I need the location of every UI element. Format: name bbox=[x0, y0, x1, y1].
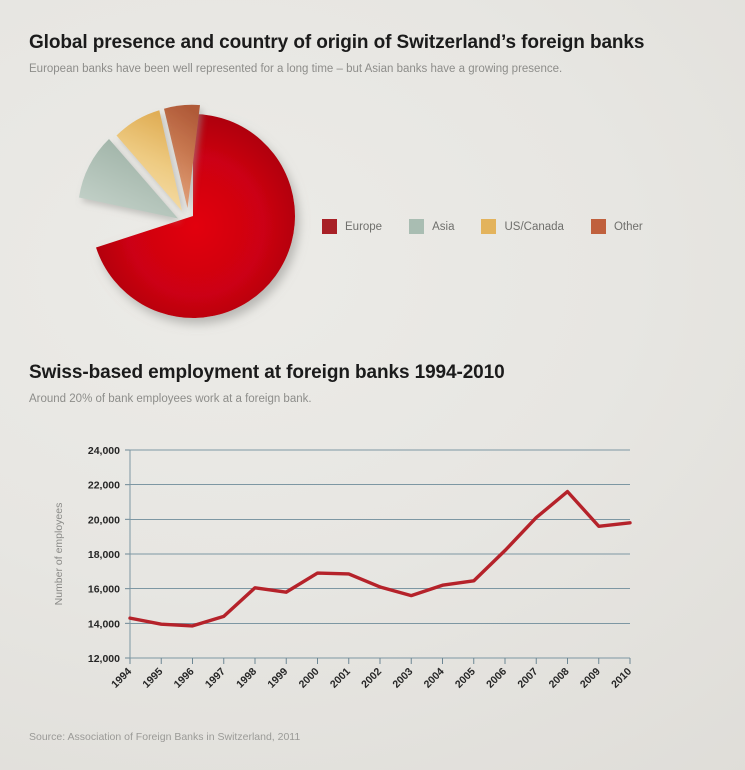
legend-swatch-asia bbox=[409, 219, 424, 234]
svg-text:2004: 2004 bbox=[422, 666, 447, 691]
pie-chart bbox=[52, 88, 322, 338]
legend-item-other[interactable]: Other bbox=[591, 219, 643, 234]
svg-text:18,000: 18,000 bbox=[88, 549, 120, 561]
source-note: Source: Association of Foreign Banks in … bbox=[29, 731, 300, 743]
infographic-page: Global presence and country of origin of… bbox=[0, 0, 745, 770]
svg-text:1994: 1994 bbox=[109, 666, 134, 691]
svg-text:2000: 2000 bbox=[297, 666, 322, 691]
legend-label-us-canada: US/Canada bbox=[504, 221, 563, 233]
section2-title: Swiss-based employment at foreign banks … bbox=[29, 362, 505, 384]
svg-text:20,000: 20,000 bbox=[88, 514, 120, 526]
legend-swatch-us-canada bbox=[481, 219, 496, 234]
svg-text:1999: 1999 bbox=[265, 666, 290, 691]
legend-label-other: Other bbox=[614, 221, 643, 233]
pie-chart-svg bbox=[52, 88, 322, 338]
chart-y-axis-label: Number of employees bbox=[53, 503, 65, 606]
chart-y-ticks: 12,00014,00016,00018,00020,00022,00024,0… bbox=[88, 445, 120, 665]
svg-text:2006: 2006 bbox=[484, 666, 509, 691]
svg-text:2010: 2010 bbox=[609, 666, 634, 691]
svg-text:2008: 2008 bbox=[547, 666, 572, 691]
svg-text:12,000: 12,000 bbox=[88, 653, 120, 665]
svg-text:1997: 1997 bbox=[203, 666, 228, 691]
legend-swatch-europe bbox=[322, 219, 337, 234]
chart-gridlines bbox=[125, 450, 630, 664]
svg-text:2005: 2005 bbox=[453, 666, 478, 691]
legend-swatch-other bbox=[591, 219, 606, 234]
svg-text:2001: 2001 bbox=[328, 666, 353, 691]
section2-subtitle: Around 20% of bank employees work at a f… bbox=[29, 393, 312, 405]
legend-item-asia[interactable]: Asia bbox=[409, 219, 454, 234]
svg-text:2009: 2009 bbox=[578, 666, 603, 691]
svg-text:2003: 2003 bbox=[390, 666, 415, 691]
legend-label-europe: Europe bbox=[345, 221, 382, 233]
chart-x-ticks: 1994199519961997199819992000200120022003… bbox=[109, 666, 634, 691]
svg-text:1998: 1998 bbox=[234, 666, 259, 691]
chart-series-employees bbox=[130, 492, 630, 626]
svg-text:16,000: 16,000 bbox=[88, 584, 120, 596]
section1-subtitle: European banks have been well represente… bbox=[29, 63, 562, 75]
legend-item-us-canada[interactable]: US/Canada bbox=[481, 219, 563, 234]
svg-text:2007: 2007 bbox=[515, 666, 540, 691]
svg-text:14,000: 14,000 bbox=[88, 618, 120, 630]
svg-text:22,000: 22,000 bbox=[88, 480, 120, 492]
svg-text:1996: 1996 bbox=[172, 666, 197, 691]
legend-label-asia: Asia bbox=[432, 221, 454, 233]
section1-title: Global presence and country of origin of… bbox=[29, 32, 644, 54]
svg-text:24,000: 24,000 bbox=[88, 445, 120, 457]
pie-legend: Europe Asia US/Canada Other bbox=[322, 219, 670, 234]
svg-text:1995: 1995 bbox=[140, 666, 165, 691]
legend-item-europe[interactable]: Europe bbox=[322, 219, 382, 234]
svg-text:2002: 2002 bbox=[359, 666, 384, 691]
